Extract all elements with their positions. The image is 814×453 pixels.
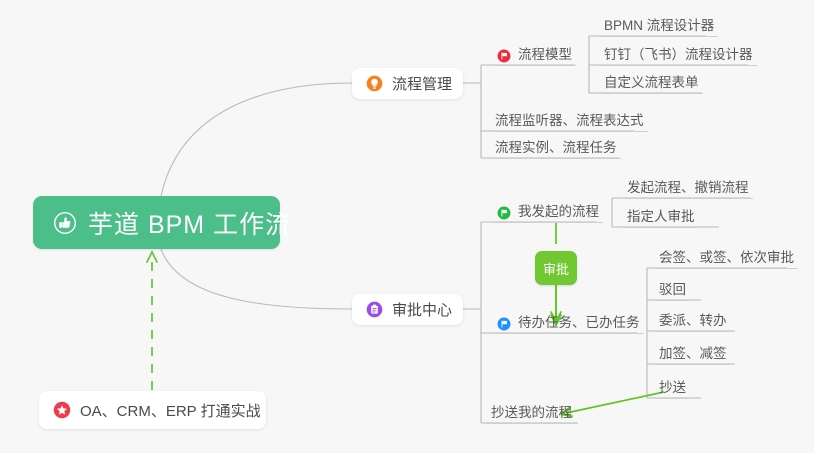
clipboard-icon xyxy=(366,301,383,318)
lightbulb-icon xyxy=(366,75,383,92)
node-label-my-started-process: 我发起的流程 xyxy=(518,203,599,220)
thumbs-up-icon xyxy=(53,211,77,235)
node-label-custom-form: 自定义流程表单 xyxy=(604,74,699,91)
node-cc[interactable]: 抄送 xyxy=(655,377,690,399)
branch-label-process-management: 流程管理 xyxy=(392,73,452,94)
node-assignee-approval[interactable]: 指定人审批 xyxy=(623,206,699,228)
node-label-listener-expression: 流程监听器、流程表达式 xyxy=(495,112,644,129)
node-label-reject: 驳回 xyxy=(659,281,686,298)
node-instance-task[interactable]: 流程实例、流程任务 xyxy=(491,137,621,159)
callout-approval-tag[interactable]: 审批 xyxy=(535,251,577,285)
node-reject[interactable]: 驳回 xyxy=(655,279,690,301)
edge-root-to-process-management xyxy=(161,83,352,196)
node-multi-sign[interactable]: 会签、或签、依次审批 xyxy=(655,247,798,269)
node-label-assignee-approval: 指定人审批 xyxy=(627,208,695,225)
branch-node-process-management[interactable]: 流程管理 xyxy=(352,68,463,99)
callout-label-approval: 审批 xyxy=(543,259,569,278)
node-add-remove-sign[interactable]: 加签、减签 xyxy=(655,343,731,365)
node-label-todo-done-tasks: 待办任务、已办任务 xyxy=(518,314,640,331)
branch-label-approval-center: 审批中心 xyxy=(392,299,452,320)
edge-root-to-approval-center xyxy=(161,249,352,309)
node-label-cc: 抄送 xyxy=(659,379,686,396)
node-dingtalk-designer[interactable]: 钉钉（飞书）流程设计器 xyxy=(600,44,757,66)
node-label-start-cancel-process: 发起流程、撤销流程 xyxy=(627,179,749,196)
node-label-bpmn-designer: BPMN 流程设计器 xyxy=(604,17,714,34)
flag-icon xyxy=(497,49,511,63)
node-label-delegate-transfer: 委派、转办 xyxy=(659,312,727,329)
node-todo-done-tasks[interactable]: 待办任务、已办任务 xyxy=(493,312,644,334)
node-custom-form[interactable]: 自定义流程表单 xyxy=(600,72,703,94)
node-process-model[interactable]: 流程模型 xyxy=(493,44,576,66)
node-delegate-transfer[interactable]: 委派、转办 xyxy=(655,310,731,332)
root-node[interactable]: 芋道 BPM 工作流 xyxy=(33,196,280,249)
mindmap-canvas: 芋道 BPM 工作流 流程管理 流程模型 BPMN 流程设计器 钉钉（飞书）流程 xyxy=(0,0,814,453)
root-label: 芋道 BPM 工作流 xyxy=(88,205,291,241)
floating-node-oa-crm-erp[interactable]: OA、CRM、ERP 打通实战 xyxy=(39,391,266,429)
arrow-cc-to-ccme xyxy=(566,392,664,413)
node-label-dingtalk-designer: 钉钉（飞书）流程设计器 xyxy=(604,46,753,63)
floating-label-oa-crm-erp: OA、CRM、ERP 打通实战 xyxy=(80,400,261,421)
node-bpmn-designer[interactable]: BPMN 流程设计器 xyxy=(600,15,718,37)
node-label-instance-task: 流程实例、流程任务 xyxy=(495,139,617,156)
node-listener-expression[interactable]: 流程监听器、流程表达式 xyxy=(491,110,648,132)
flag-icon xyxy=(497,206,511,220)
node-my-started-process[interactable]: 我发起的流程 xyxy=(493,201,603,223)
node-label-cc-to-me: 抄送我的流程 xyxy=(491,404,572,421)
node-label-process-model: 流程模型 xyxy=(518,46,572,63)
node-label-add-remove-sign: 加签、减签 xyxy=(659,345,727,362)
node-cc-to-me[interactable]: 抄送我的流程 xyxy=(487,402,576,424)
star-icon xyxy=(53,401,71,419)
node-label-multi-sign: 会签、或签、依次审批 xyxy=(659,249,794,266)
node-start-cancel-process[interactable]: 发起流程、撤销流程 xyxy=(623,177,753,199)
branch-node-approval-center[interactable]: 审批中心 xyxy=(352,294,463,325)
flag-icon xyxy=(497,317,511,331)
